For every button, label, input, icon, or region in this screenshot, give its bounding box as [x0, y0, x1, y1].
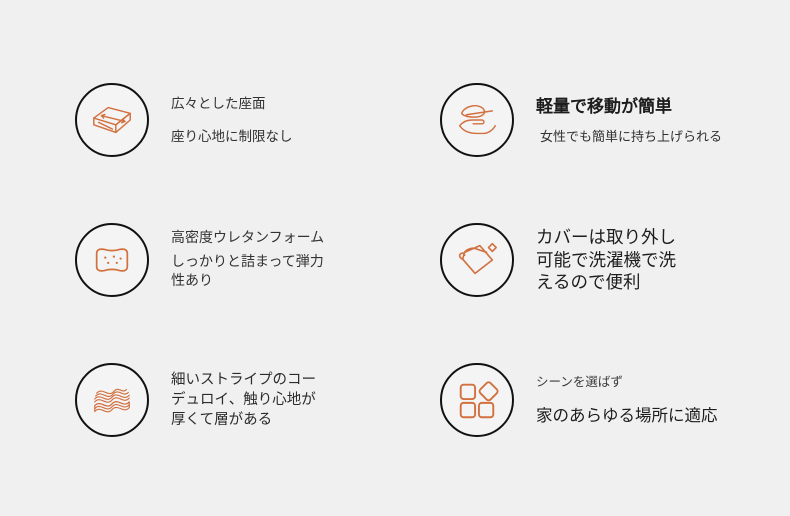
foam-sponge-icon: [75, 223, 149, 297]
feature-line-1: カバーは取り外し 可能で洗濯機で洗 えるので便利: [536, 226, 676, 294]
feature-line-1: シーンを選ばず: [536, 376, 718, 389]
feature-line-1: 広々とした座面: [171, 97, 293, 111]
feature-line-1: 高密度ウレタンフォーム: [171, 230, 324, 244]
feature-grid: 広々とした座面 座り心地に制限なし 軽量で移動が簡単 女性でも簡単に持ち上げられ…: [0, 0, 790, 516]
feather-on-hand-icon: [440, 83, 514, 157]
feature-text: 広々とした座面 座り心地に制限なし: [171, 97, 293, 144]
feature-text: カバーは取り外し 可能で洗濯機で洗 えるので便利: [536, 226, 676, 294]
feature-item-removable-cover: カバーは取り外し 可能で洗濯機で洗 えるので便利: [440, 223, 676, 297]
feature-text: 細いストライプのコー デュロイ、触り心地が 厚くて層がある: [171, 370, 316, 430]
feature-line-2: 家のあらゆる場所に適応: [536, 408, 718, 425]
feature-item-high-density-foam: 高密度ウレタンフォーム しっかりと詰まって弾力 性あり: [75, 223, 324, 297]
feature-line-1: 軽量で移動が簡単: [536, 98, 722, 115]
feature-text: シーンを選ばず 家のあらゆる場所に適応: [536, 376, 718, 424]
feature-line-1: 細いストライプのコー デュロイ、触り心地が 厚くて層がある: [171, 370, 316, 430]
layered-fabric-icon: [75, 363, 149, 437]
feature-text: 高密度ウレタンフォーム しっかりと詰まって弾力 性あり: [171, 230, 324, 290]
four-shapes-icon: [440, 363, 514, 437]
feature-item-corduroy-fabric: 細いストライプのコー デュロイ、触り心地が 厚くて層がある: [75, 363, 316, 437]
feature-line-2: 座り心地に制限なし: [171, 130, 293, 144]
removable-cover-icon: [440, 223, 514, 297]
feature-text: 軽量で移動が簡単 女性でも簡単に持ち上げられる: [536, 98, 722, 143]
feature-item-versatile-placement: シーンを選ばず 家のあらゆる場所に適応: [440, 363, 718, 437]
cushion-dimension-icon: [75, 83, 149, 157]
feature-item-spacious-seat: 広々とした座面 座り心地に制限なし: [75, 83, 293, 157]
feature-line-2: 女性でも簡単に持ち上げられる: [540, 130, 722, 143]
feature-line-2: しっかりと詰まって弾力 性あり: [171, 252, 324, 290]
feature-item-lightweight: 軽量で移動が簡単 女性でも簡単に持ち上げられる: [440, 83, 722, 157]
